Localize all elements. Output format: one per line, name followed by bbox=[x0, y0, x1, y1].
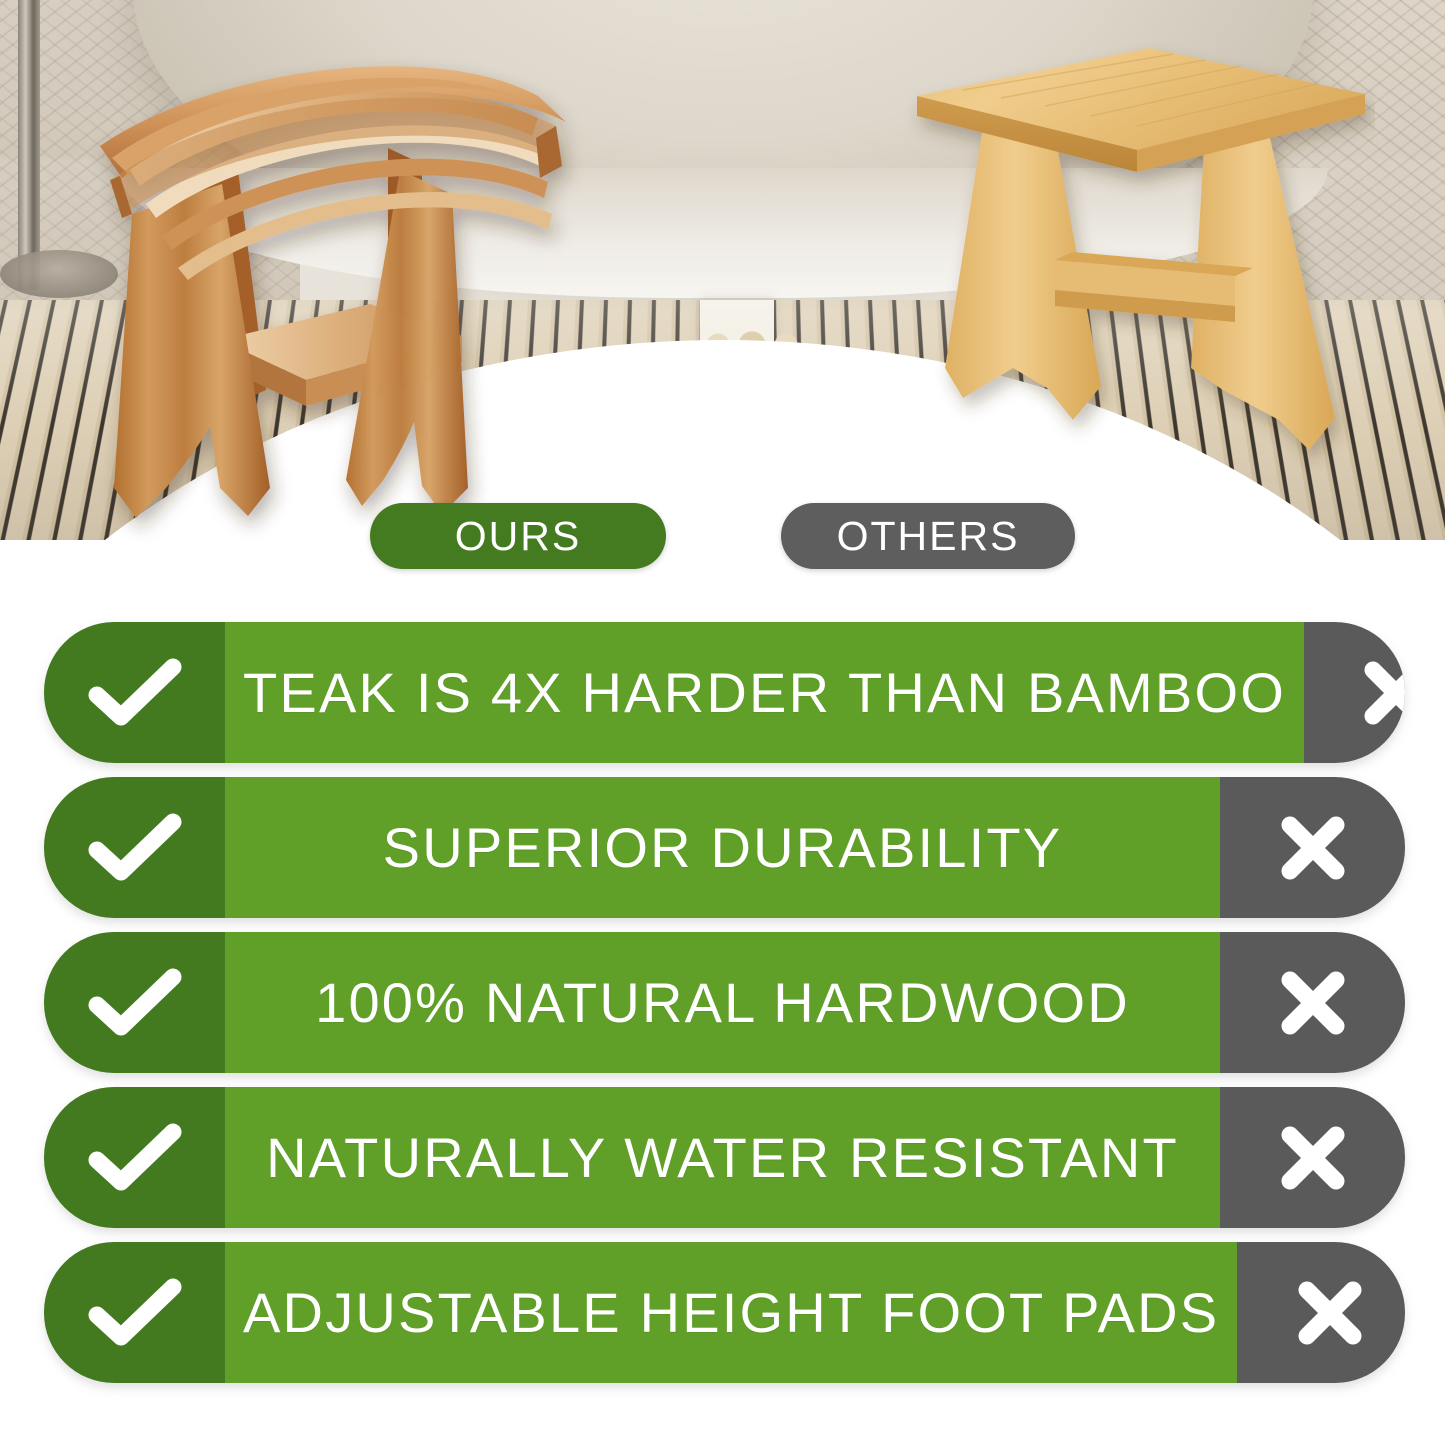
feature-label-cell: 100% NATURAL HARDWOOD bbox=[225, 932, 1220, 1073]
bamboo-stool-art bbox=[905, 38, 1375, 528]
ours-check-cell bbox=[44, 932, 225, 1073]
comparison-row: SUPERIOR DURABILITY bbox=[0, 777, 1445, 918]
others-x-cell bbox=[1220, 1087, 1405, 1228]
ours-label-pill: OURS bbox=[370, 503, 666, 569]
feature-text: 100% NATURAL HARDWOOD bbox=[315, 975, 1130, 1031]
feature-text: TEAK IS 4X HARDER THAN BAMBOO bbox=[243, 665, 1286, 721]
row-inner: SUPERIOR DURABILITY bbox=[44, 777, 1405, 918]
row-inner: ADJUSTABLE HEIGHT FOOT PADS bbox=[44, 1242, 1405, 1383]
ours-check-cell bbox=[44, 777, 225, 918]
check-icon bbox=[87, 965, 183, 1041]
comparison-row: ADJUSTABLE HEIGHT FOOT PADS bbox=[0, 1242, 1445, 1383]
x-icon bbox=[1359, 656, 1405, 730]
product-comparison-photo-band: OURS OTHERS bbox=[0, 0, 1445, 600]
check-icon bbox=[87, 655, 183, 731]
others-x-cell bbox=[1304, 622, 1405, 763]
chrome-pole bbox=[18, 0, 40, 290]
teak-stool-art bbox=[70, 18, 590, 563]
feature-text: ADJUSTABLE HEIGHT FOOT PADS bbox=[243, 1285, 1219, 1341]
ours-check-cell bbox=[44, 622, 225, 763]
teak-stool-image bbox=[70, 18, 590, 563]
feature-text: NATURALLY WATER RESISTANT bbox=[266, 1130, 1179, 1186]
bamboo-stool-image bbox=[905, 38, 1375, 528]
x-icon bbox=[1276, 966, 1350, 1040]
row-inner: 100% NATURAL HARDWOOD bbox=[44, 932, 1405, 1073]
comparison-row: 100% NATURAL HARDWOOD bbox=[0, 932, 1445, 1073]
ours-check-cell bbox=[44, 1242, 225, 1383]
check-icon bbox=[87, 810, 183, 886]
others-x-cell bbox=[1237, 1242, 1405, 1383]
others-label-pill: OTHERS bbox=[781, 503, 1075, 569]
x-icon bbox=[1293, 1276, 1367, 1350]
comparison-row: TEAK IS 4X HARDER THAN BAMBOO bbox=[0, 622, 1445, 763]
others-x-cell bbox=[1220, 932, 1405, 1073]
row-inner: TEAK IS 4X HARDER THAN BAMBOO bbox=[44, 622, 1405, 763]
check-icon bbox=[87, 1120, 183, 1196]
comparison-rows: TEAK IS 4X HARDER THAN BAMBOO SUPERIOR D… bbox=[0, 622, 1445, 1383]
ours-check-cell bbox=[44, 1087, 225, 1228]
feature-label-cell: SUPERIOR DURABILITY bbox=[225, 777, 1220, 918]
row-inner: NATURALLY WATER RESISTANT bbox=[44, 1087, 1405, 1228]
comparison-row: NATURALLY WATER RESISTANT bbox=[0, 1087, 1445, 1228]
feature-label-cell: TEAK IS 4X HARDER THAN BAMBOO bbox=[225, 622, 1304, 763]
feature-label-cell: NATURALLY WATER RESISTANT bbox=[225, 1087, 1220, 1228]
x-icon bbox=[1276, 811, 1350, 885]
x-icon bbox=[1276, 1121, 1350, 1195]
check-icon bbox=[87, 1275, 183, 1351]
feature-text: SUPERIOR DURABILITY bbox=[383, 820, 1063, 876]
feature-label-cell: ADJUSTABLE HEIGHT FOOT PADS bbox=[225, 1242, 1237, 1383]
others-x-cell bbox=[1220, 777, 1405, 918]
